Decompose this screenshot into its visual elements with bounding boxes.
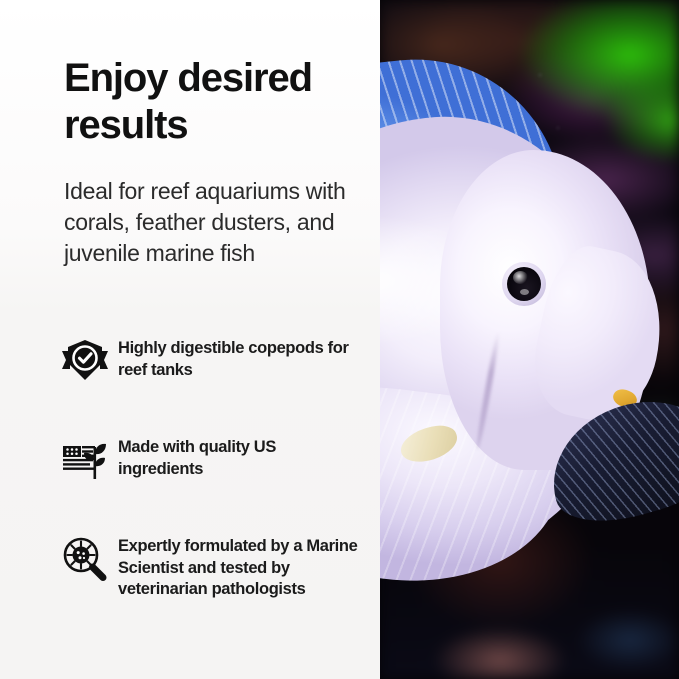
- list-item: Expertly formulated by a Marine Scientis…: [62, 535, 372, 601]
- product-photo-fish-reef: [380, 0, 679, 679]
- magnifier-microbe-icon: [62, 535, 118, 587]
- page-title: Enjoy desired results: [64, 55, 374, 149]
- product-feature-card: Enjoy desired results Ideal for reef aqu…: [0, 0, 679, 679]
- shield-check-badge-icon: [62, 337, 118, 389]
- subheading: Ideal for reef aquariums with corals, fe…: [64, 176, 364, 269]
- list-item-label: Made with quality US ingredients: [118, 436, 358, 480]
- list-item: Highly digestible copepods for reef tank…: [62, 337, 372, 389]
- us-flag-plant-icon: [62, 436, 118, 488]
- list-item-label: Highly digestible copepods for reef tank…: [118, 337, 358, 381]
- list-item-label: Expertly formulated by a Marine Scientis…: [118, 535, 358, 601]
- fish-eye-highlight-secondary: [520, 289, 529, 295]
- fish-eye-highlight: [513, 271, 528, 284]
- text-panel: Enjoy desired results Ideal for reef aqu…: [0, 0, 380, 679]
- list-item: Made with quality US ingredients: [62, 436, 372, 488]
- feature-list: Highly digestible copepods for reef tank…: [62, 337, 372, 601]
